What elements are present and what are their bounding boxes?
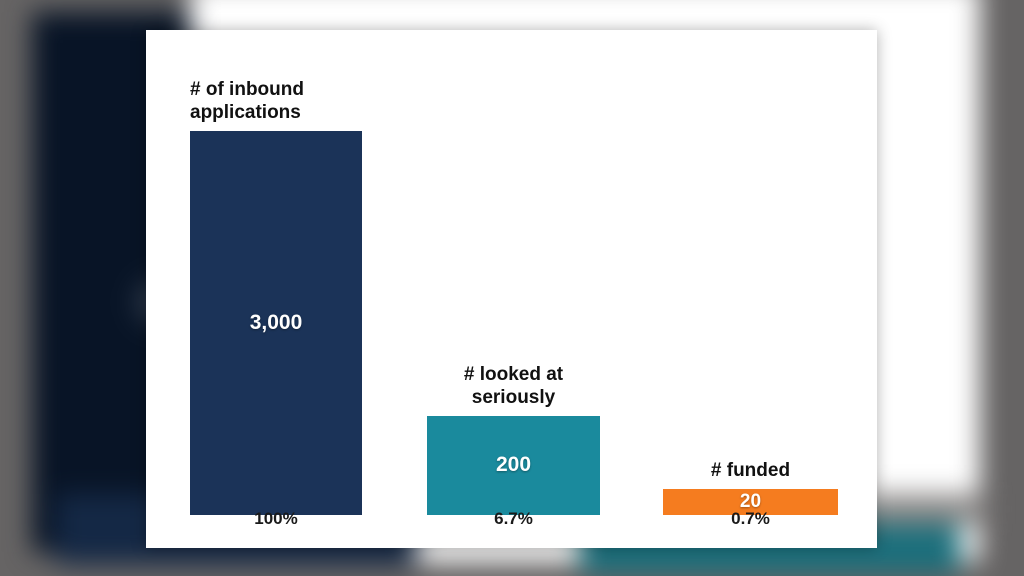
bar-group-looked-at-seriously: # looked at seriously 200 (427, 416, 600, 515)
bar-value-looked-at-seriously: 200 (427, 453, 600, 477)
bar-value-inbound-applications: 3,000 (190, 311, 362, 335)
bar-chart: # of inbound applications 3,000 100% # l… (146, 30, 877, 548)
bar-label-inbound-applications: # of inbound applications (190, 78, 362, 124)
percent-label-looked-at-seriously: 6.7% (427, 509, 600, 529)
percent-label-funded: 0.7% (663, 509, 838, 529)
background-gray-chip (865, 494, 985, 524)
screenshot-stage: # of inbound applications 3,000 100% # l… (0, 0, 1024, 576)
bar-label-looked-at-seriously: # looked at seriously (427, 363, 600, 409)
percent-label-inbound-applications: 100% (190, 509, 362, 529)
bar-group-inbound-applications: # of inbound applications 3,000 (190, 131, 362, 515)
bar-label-funded: # funded (663, 459, 838, 482)
chart-card: # of inbound applications 3,000 100% # l… (146, 30, 877, 548)
